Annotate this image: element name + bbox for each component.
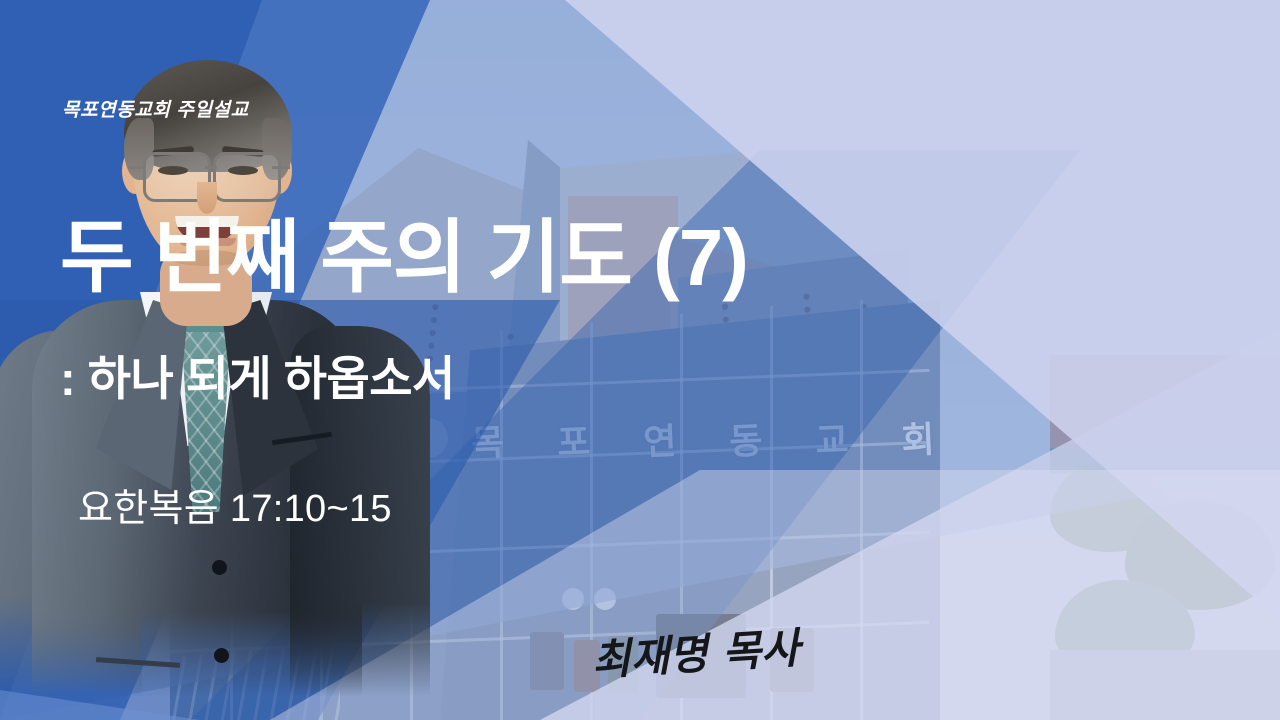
page-title: 두 번째 주의 기도 (7) — [60, 218, 748, 298]
sermon-subtitle: : 하나 되게 하옵소서 — [60, 355, 455, 402]
eyeglasses-lens-right — [213, 152, 281, 202]
suit-button-bottom — [214, 648, 229, 663]
eyeglasses-bridge — [205, 166, 217, 169]
kicker-label: 목포연동교회 주일설교 — [62, 95, 249, 122]
suit-button-top — [212, 560, 227, 575]
speaker-signature: 최재명 목사 — [591, 627, 801, 682]
scripture-reference: 요한복음 17:10~15 — [78, 490, 392, 528]
eyeglasses-temple-left — [128, 166, 146, 169]
eyeglasses-temple-right — [272, 166, 290, 169]
nose — [197, 182, 217, 214]
sermon-title-card: 목 포 연 동 교 회 — [0, 0, 1280, 720]
